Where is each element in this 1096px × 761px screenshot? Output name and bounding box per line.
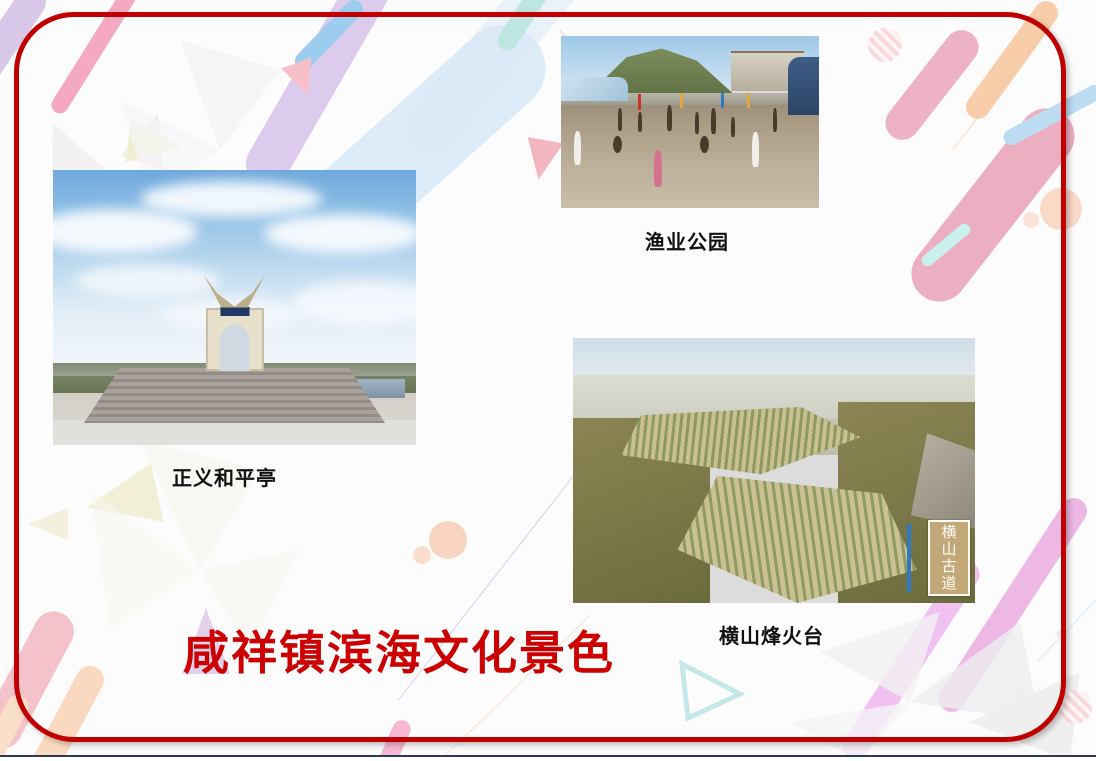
decor-circle-peach-small xyxy=(413,546,431,564)
photo-fishery-mudflat xyxy=(561,101,819,208)
photo-monument-plaque xyxy=(220,307,249,316)
decor-circle-peach-large xyxy=(429,521,467,559)
photo-fishery-flag xyxy=(680,93,683,108)
photo-fishery-flag xyxy=(721,93,724,108)
person xyxy=(613,136,622,153)
decor-triangle-outline-teal xyxy=(676,660,746,722)
decor-circle-peach-right xyxy=(1040,188,1082,230)
caption-fishery: 渔业公园 xyxy=(645,226,729,255)
photo-fishery-flag xyxy=(638,94,641,109)
slide-canvas: 正义和平亭 渔业公园 xyxy=(0,0,1096,761)
person xyxy=(695,112,699,134)
caption-terrace: 横山烽火台 xyxy=(719,620,824,649)
page-title: 咸祥镇滨海文化景色 xyxy=(183,617,615,683)
person xyxy=(773,108,777,132)
person xyxy=(574,131,581,165)
photo-fishery-flag xyxy=(747,93,750,108)
photo-monument-plaza xyxy=(53,420,416,445)
decor-bar-peach-right xyxy=(961,0,1063,124)
cloud xyxy=(75,264,220,297)
person xyxy=(618,108,622,130)
photo-monument-steps xyxy=(84,368,385,423)
person xyxy=(711,108,716,134)
caption-monument: 正义和平亭 xyxy=(172,462,277,491)
photo-monument-dove-wings xyxy=(204,275,266,308)
photo-fishery-inflatable-right xyxy=(788,57,819,115)
decor-triangle-gray-small xyxy=(1012,682,1026,695)
wing-right xyxy=(233,275,265,308)
person xyxy=(654,150,662,188)
photo-terrace-watermark-sign: 横山古道 xyxy=(928,520,970,596)
decor-circle-striped-bottomright xyxy=(1058,690,1092,724)
cloud xyxy=(140,181,322,217)
photo-monument-arch-opening xyxy=(219,324,250,371)
person xyxy=(667,105,672,131)
photo-terrace-blue-pipe xyxy=(907,524,911,593)
person xyxy=(731,117,735,138)
photo-fishery-inflatable-left xyxy=(561,77,628,101)
person xyxy=(752,132,759,166)
decor-triangle-pink-2 xyxy=(521,137,563,183)
photo-monument[interactable] xyxy=(53,170,416,445)
cloud xyxy=(264,214,416,253)
decor-circle-peach-right-small xyxy=(1023,212,1039,228)
photo-terrace[interactable]: 横山古道 xyxy=(573,338,975,603)
wing-left xyxy=(204,275,236,308)
photo-terrace-watermark-text: 横山古道 xyxy=(939,524,960,592)
decor-polygon-cluster-bottomright xyxy=(790,612,1080,761)
bottom-strip xyxy=(0,757,1096,761)
decor-circle-striped-topright xyxy=(868,28,902,62)
photo-fishery[interactable] xyxy=(561,36,819,208)
